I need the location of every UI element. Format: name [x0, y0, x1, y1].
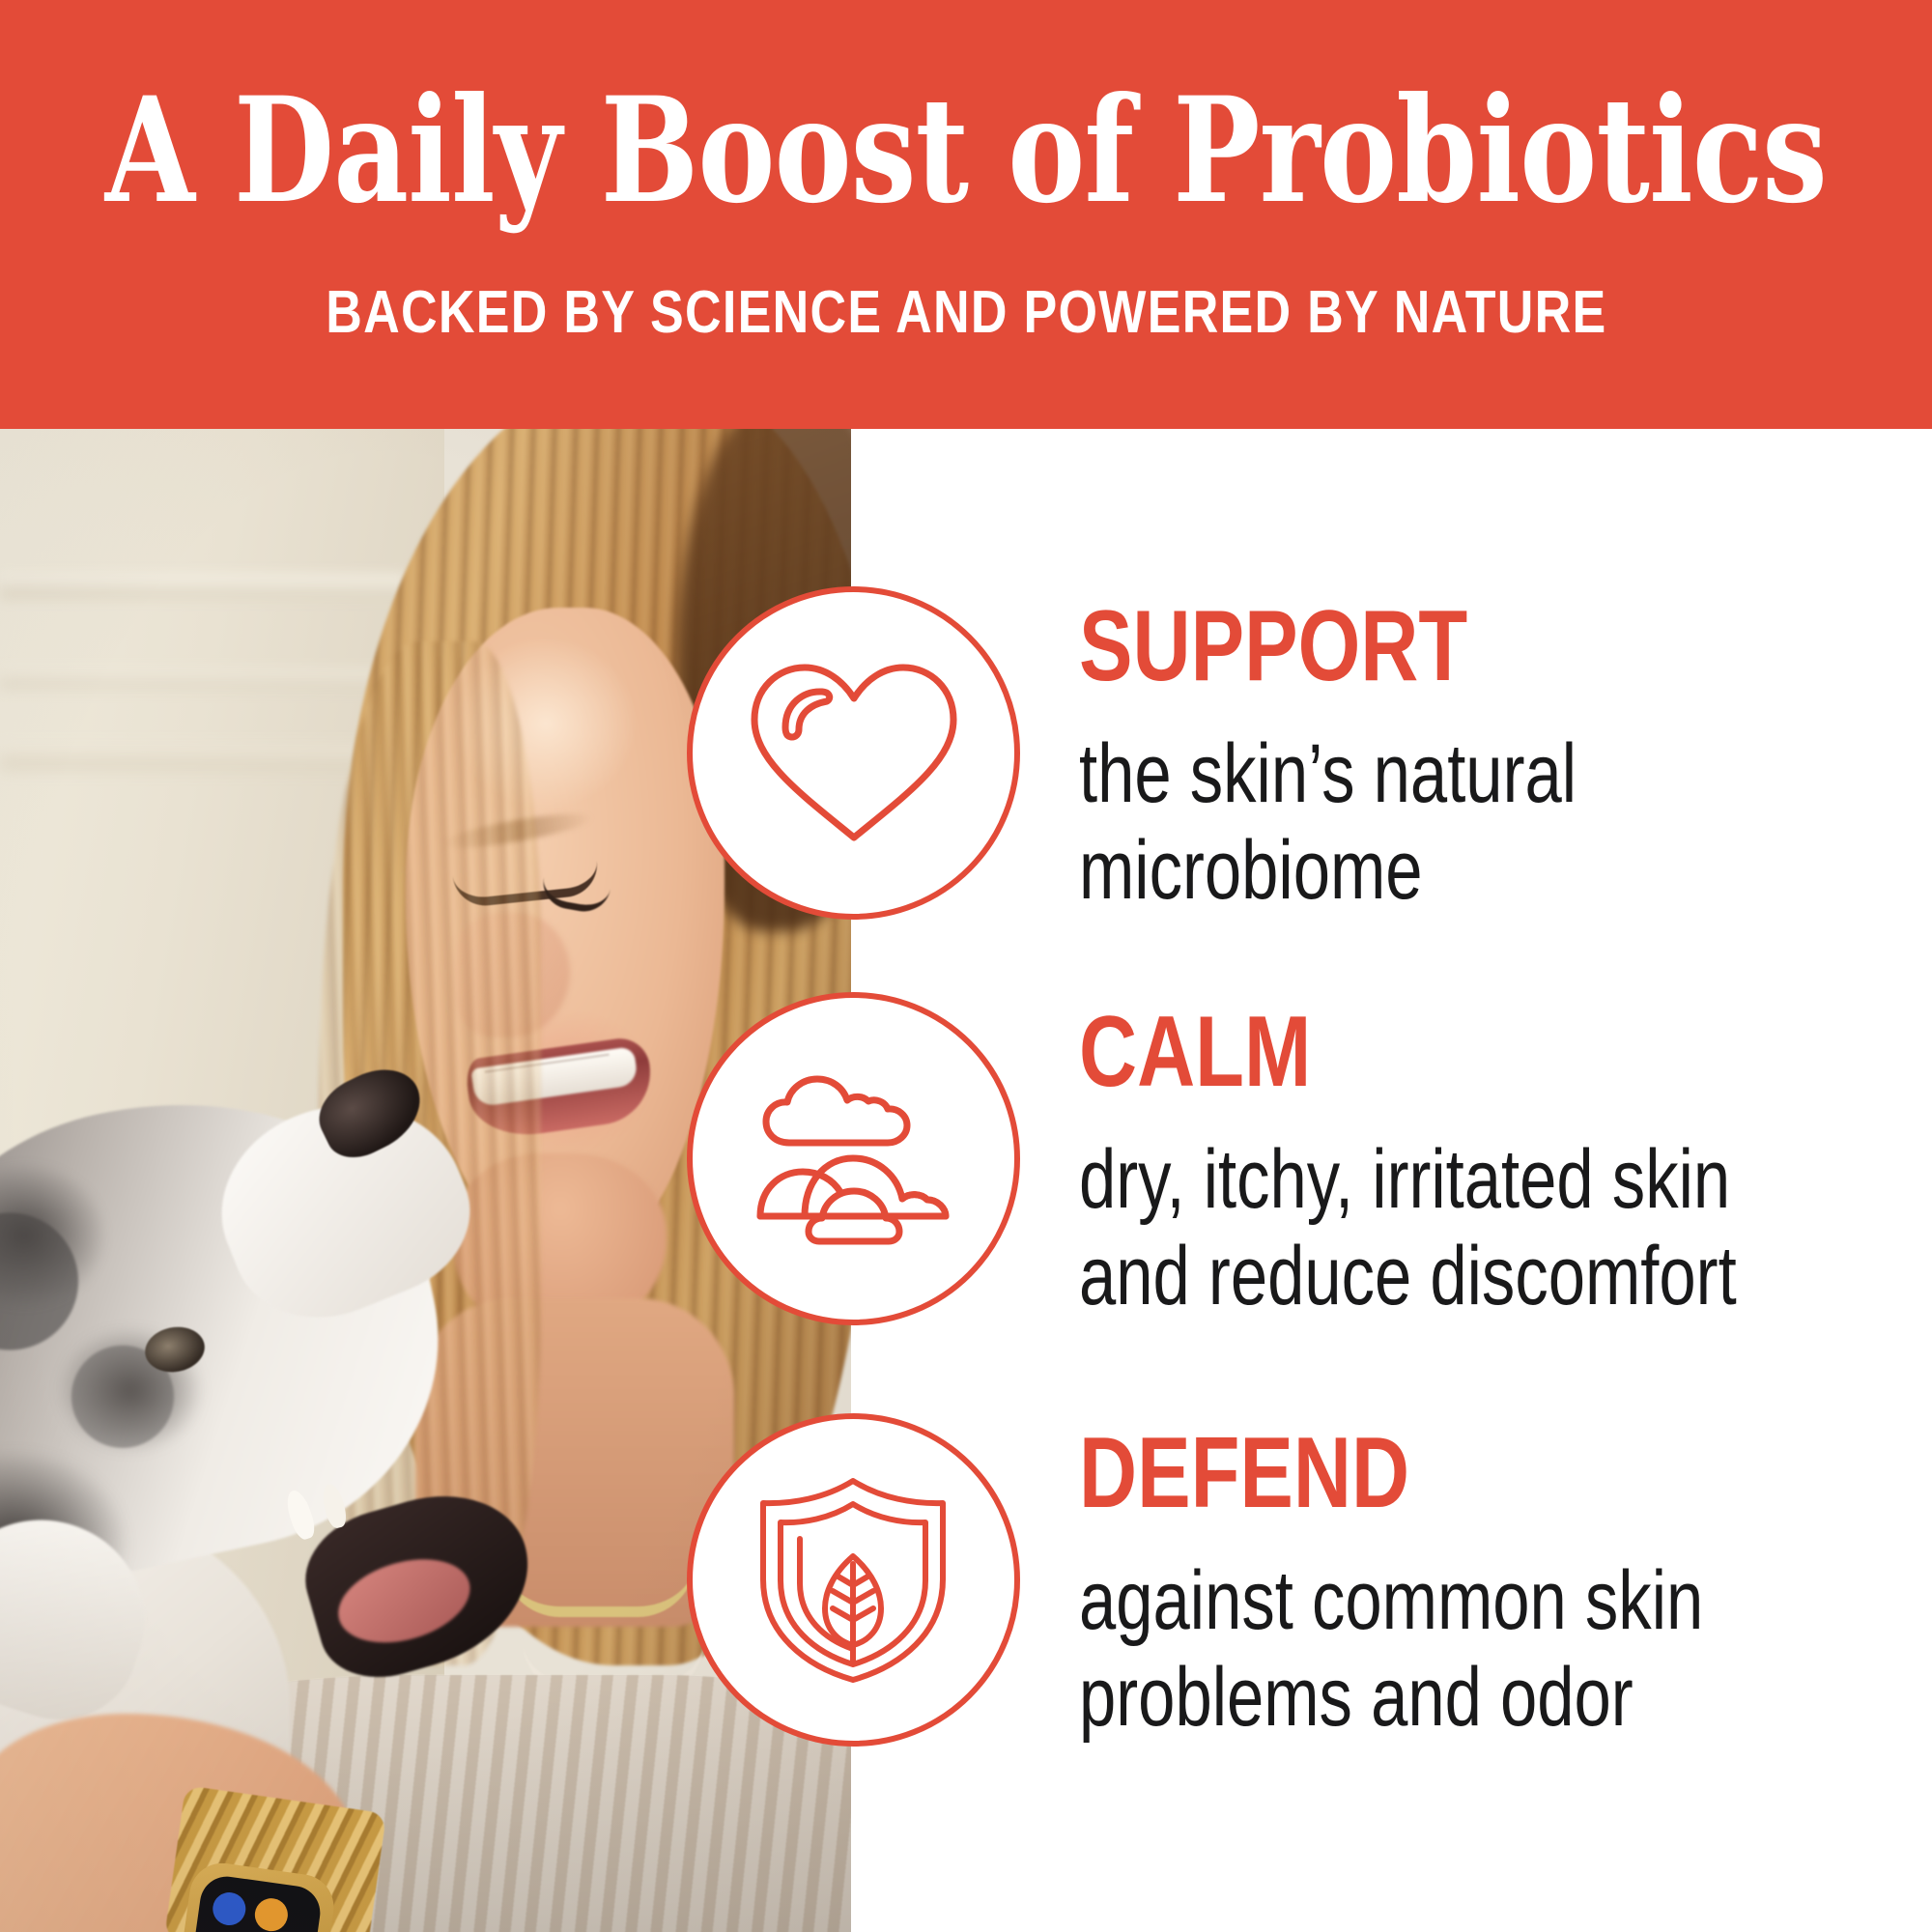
feature-body-line: against common skin [1079, 1552, 1914, 1649]
feature-body-line: dry, itchy, irritated skin [1079, 1131, 1914, 1228]
heart-icon [687, 586, 1020, 920]
clouds-icon [687, 992, 1020, 1325]
feature-body: against common skin problems and odor [1079, 1552, 1914, 1746]
feature-body-line: problems and odor [1079, 1649, 1914, 1746]
feature-text-support: SUPPORT the skin’s natural microbiome [1079, 596, 1881, 919]
feature-text-calm: CALM dry, itchy, irritated skin and redu… [1079, 1002, 1881, 1324]
feature-body: the skin’s natural microbiome [1079, 725, 1914, 919]
feature-body-line: the skin’s natural [1079, 725, 1914, 822]
feature-heading: SUPPORT [1079, 596, 1720, 696]
feature-body-line: microbiome [1079, 822, 1914, 919]
shield-leaf-icon [687, 1413, 1020, 1747]
feature-body-line: and reduce discomfort [1079, 1228, 1914, 1324]
feature-body: dry, itchy, irritated skin and reduce di… [1079, 1131, 1914, 1324]
feature-text-defend: DEFEND against common skin problems and … [1079, 1423, 1881, 1746]
feature-heading: CALM [1079, 1002, 1720, 1102]
feature-heading: DEFEND [1079, 1423, 1720, 1523]
feature-list: SUPPORT the skin’s natural microbiome [0, 0, 1932, 1932]
